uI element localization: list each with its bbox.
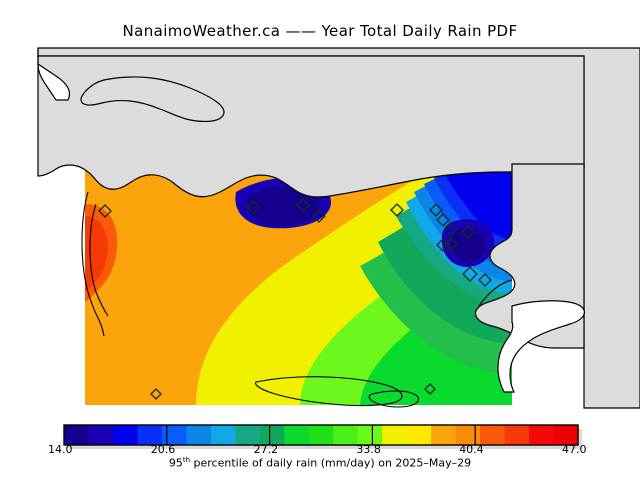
weather-map-page: NanaimoWeather.ca —— Year Total Daily Ra… [0,0,640,480]
colorbar-cell [431,425,456,445]
colorbar-caption: 95th percentile of daily rain (mm/day) o… [0,456,640,470]
colorbar-cell [407,425,432,445]
colorbar-cell [162,425,187,445]
colorbar-cell [235,425,260,445]
colorbar-cell [284,425,309,445]
colorbar-cell [382,425,407,445]
contour-map [0,44,640,412]
colorbar-cell [358,425,383,445]
colorbar-cell [554,425,579,445]
page-title: NanaimoWeather.ca —— Year Total Daily Ra… [0,22,640,40]
caption-rest: percentile of daily rain (mm/day) on 202… [190,457,471,470]
colorbar-tick-label: 33.8 [356,443,381,456]
colorbar-cell [480,425,505,445]
contour-map-svg [0,44,640,412]
colorbar-cell [260,425,285,445]
colorbar-tick-label: 47.0 [562,443,587,456]
caption-prefix: 95 [169,457,183,470]
colorbar-tick-label: 14.0 [48,443,73,456]
colorbar-tick-label: 27.2 [254,443,279,456]
colorbar-cell [64,425,89,445]
caption-superscript: th [183,456,190,464]
colorbar-cell [186,425,211,445]
colorbar-cell [211,425,236,445]
colorbar-cell [137,425,162,445]
colorbar-tick-label: 20.6 [151,443,176,456]
colorbar-cell [529,425,554,445]
colorbar-cell [88,425,113,445]
colorbar-cell [113,425,138,445]
colorbar-cell [456,425,481,445]
colorbar-tick-label: 40.4 [459,443,484,456]
colorbar-cell [333,425,358,445]
colorbar-cell [309,425,334,445]
colorbar-tick-labels: 14.020.627.233.840.447.0 [0,443,640,457]
colorbar-cells [64,425,579,445]
colorbar-cell [505,425,530,445]
